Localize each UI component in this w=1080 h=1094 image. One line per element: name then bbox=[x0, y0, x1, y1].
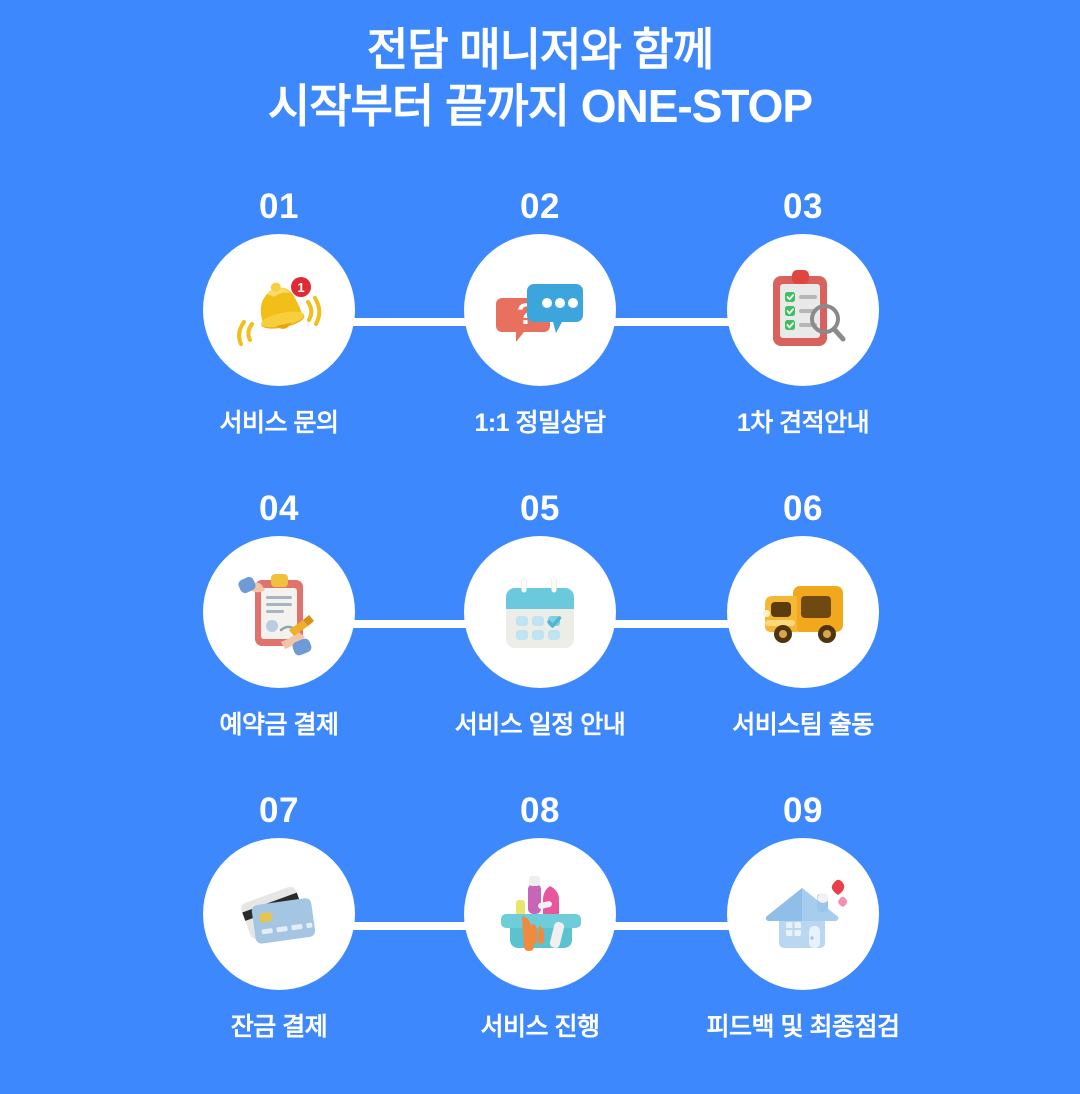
step-number: 07 bbox=[164, 792, 394, 832]
step-circle[interactable] bbox=[203, 838, 355, 990]
step-number: 01 bbox=[164, 188, 394, 228]
step-number: 08 bbox=[425, 792, 655, 832]
step-label: 서비스 일정 안내 bbox=[425, 710, 655, 740]
step-label: 잔금 결제 bbox=[164, 1012, 394, 1042]
step-label: 피드백 및 최종점검 bbox=[688, 1012, 918, 1042]
step-label: 서비스 문의 bbox=[164, 408, 394, 438]
step-label: 1:1 정밀상담 bbox=[425, 408, 655, 438]
step-08[interactable]: 08 bbox=[425, 792, 655, 1042]
step-label: 1차 견적안내 bbox=[688, 408, 918, 438]
step-label: 서비스팀 출동 bbox=[688, 710, 918, 740]
step-row-2: 04 bbox=[0, 490, 1080, 792]
step-05[interactable]: 05 bbox=[425, 490, 655, 740]
page-title: 전담 매니저와 함께 시작부터 끝까지 ONE-STOP bbox=[0, 22, 1080, 134]
step-label: 예약금 결제 bbox=[164, 710, 394, 740]
delivery-truck-icon bbox=[755, 564, 851, 660]
step-03[interactable]: 03 bbox=[688, 188, 918, 438]
step-circle[interactable] bbox=[464, 838, 616, 990]
title-line-1: 전담 매니저와 함께 bbox=[0, 22, 1080, 78]
step-row-1: 01 bbox=[0, 188, 1080, 490]
step-04[interactable]: 04 bbox=[164, 490, 394, 740]
step-number: 06 bbox=[688, 490, 918, 530]
credit-cards-icon bbox=[231, 866, 327, 962]
step-number: 05 bbox=[425, 490, 655, 530]
step-label: 서비스 진행 bbox=[425, 1012, 655, 1042]
title-line-2: 시작부터 끝까지 ONE-STOP bbox=[0, 78, 1080, 134]
step-circle[interactable] bbox=[727, 234, 879, 386]
step-circle[interactable] bbox=[727, 838, 879, 990]
bell-notification-icon: 1 bbox=[231, 262, 327, 358]
calendar-icon bbox=[492, 564, 588, 660]
step-06[interactable]: 06 서비스팀 출동 bbox=[688, 490, 918, 740]
cleaning-supplies-icon bbox=[492, 866, 588, 962]
svg-text:1: 1 bbox=[297, 280, 304, 295]
step-number: 09 bbox=[688, 792, 918, 832]
step-09[interactable]: 09 bbox=[688, 792, 918, 1042]
step-circle[interactable] bbox=[203, 536, 355, 688]
step-number: 04 bbox=[164, 490, 394, 530]
step-07[interactable]: 07 bbox=[164, 792, 394, 1042]
clipboard-search-icon bbox=[755, 262, 851, 358]
step-number: 02 bbox=[425, 188, 655, 228]
step-02[interactable]: 02 ? 1:1 정밀상담 bbox=[425, 188, 655, 438]
step-circle[interactable] bbox=[464, 536, 616, 688]
step-row-3: 07 bbox=[0, 792, 1080, 1094]
step-circle[interactable]: ? bbox=[464, 234, 616, 386]
contract-signing-icon bbox=[231, 564, 327, 660]
step-number: 03 bbox=[688, 188, 918, 228]
step-circle[interactable]: 1 bbox=[203, 234, 355, 386]
process-steps: 01 bbox=[0, 188, 1080, 1094]
house-hearts-icon bbox=[755, 866, 851, 962]
speech-bubbles-icon: ? bbox=[492, 262, 588, 358]
step-01[interactable]: 01 bbox=[164, 188, 394, 438]
step-circle[interactable] bbox=[727, 536, 879, 688]
